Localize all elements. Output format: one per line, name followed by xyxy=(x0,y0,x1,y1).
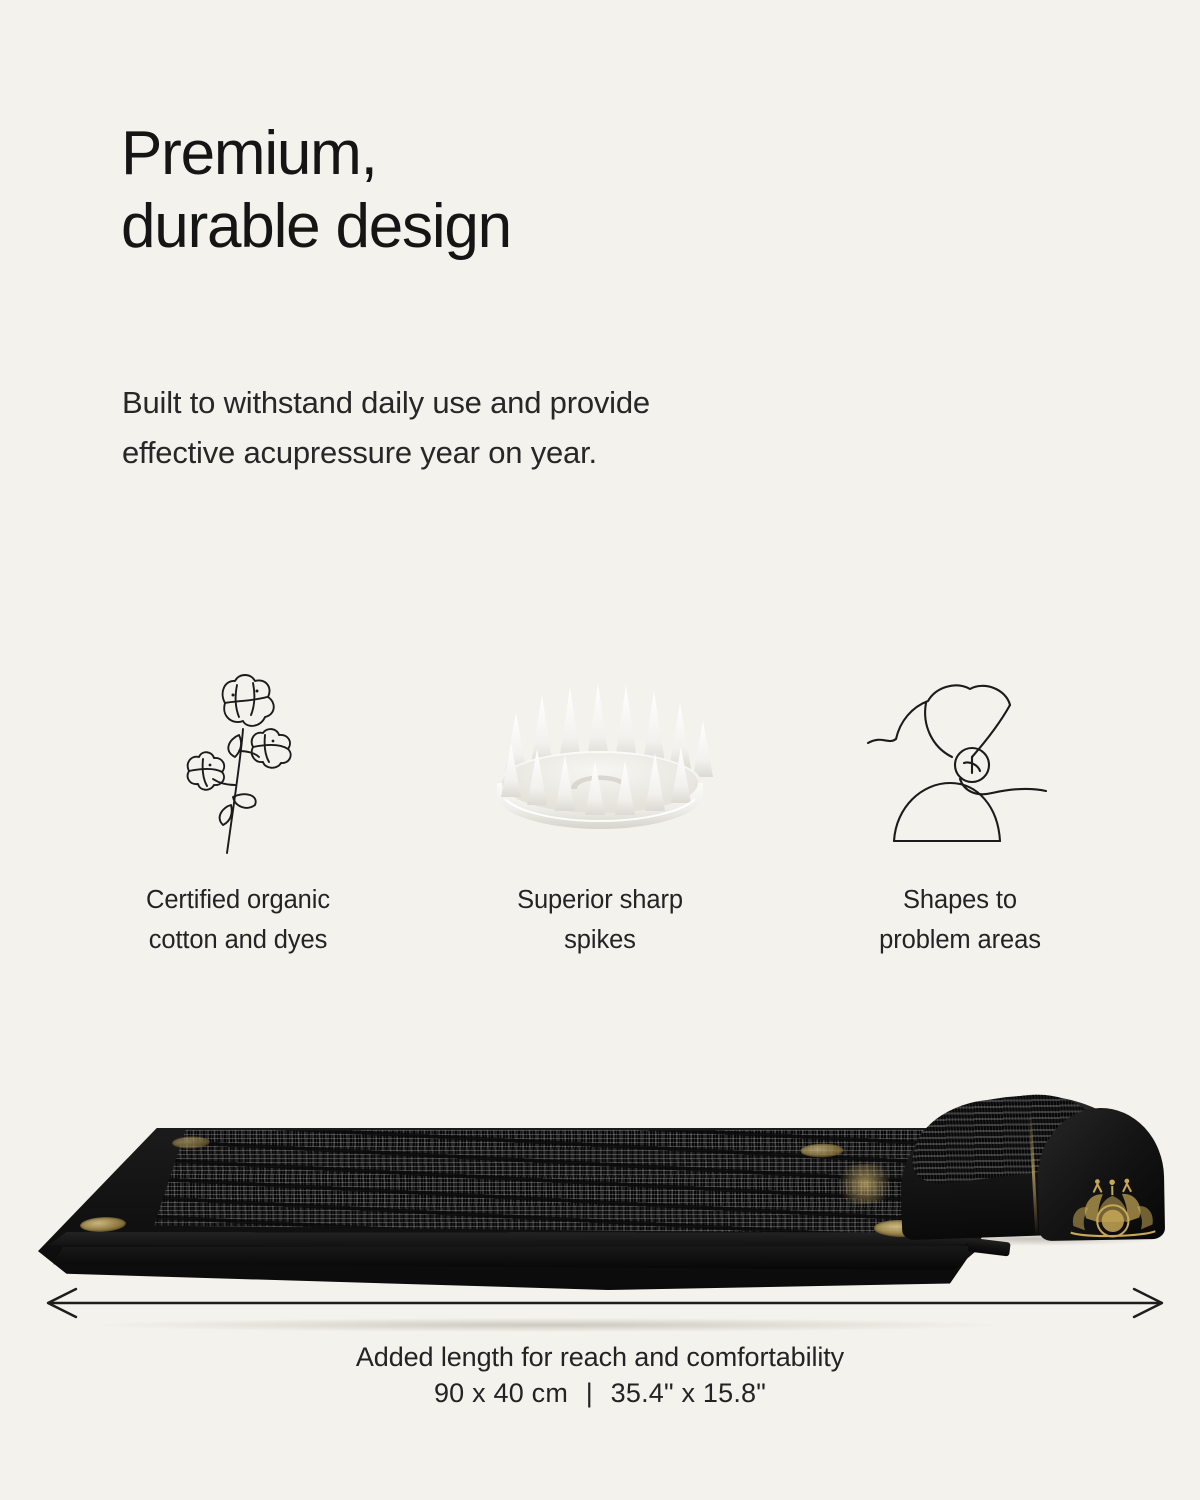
acupressure-mat xyxy=(38,1128,988,1290)
gold-mandala-emblem xyxy=(1066,1163,1160,1241)
pillow-end-cap xyxy=(1037,1107,1165,1241)
spike-disc-icon xyxy=(475,665,725,855)
feature-label: Certified organic cotton and dyes xyxy=(146,881,330,960)
product-photo xyxy=(0,1050,1200,1280)
dimension-imperial: 35.4" x 15.8" xyxy=(611,1378,766,1408)
feature-label: Superior sharp spikes xyxy=(517,881,683,960)
mat-gold-logo xyxy=(827,1161,904,1206)
acupressure-bolster-pillow xyxy=(900,1082,1168,1282)
dimension-metric: 90 x 40 cm xyxy=(434,1378,568,1408)
feature-item-sharp-spikes: Superior sharp spikes xyxy=(420,665,780,960)
dimension-arrow xyxy=(40,1283,1170,1323)
head-on-bolster-icon xyxy=(860,665,1060,855)
page-title: Premium, durable design xyxy=(121,118,511,263)
product-feature-page: Premium, durable design Built to withsta… xyxy=(0,0,1200,1500)
page-subtitle: Built to withstand daily use and provide… xyxy=(122,378,650,478)
dimension-sizes: 90 x 40 cm | 35.4" x 15.8" xyxy=(0,1378,1200,1409)
feature-item-shapes-to-problem-areas: Shapes to problem areas xyxy=(780,665,1140,960)
dimension-separator: | xyxy=(576,1378,603,1408)
feature-label: Shapes to problem areas xyxy=(879,881,1041,960)
feature-item-organic-cotton: Certified organic cotton and dyes xyxy=(60,665,420,960)
dimension-caption: Added length for reach and comfortabilit… xyxy=(0,1338,1200,1376)
feature-list: Certified organic cotton and dyes xyxy=(60,665,1140,960)
cotton-flower-icon xyxy=(155,665,325,855)
